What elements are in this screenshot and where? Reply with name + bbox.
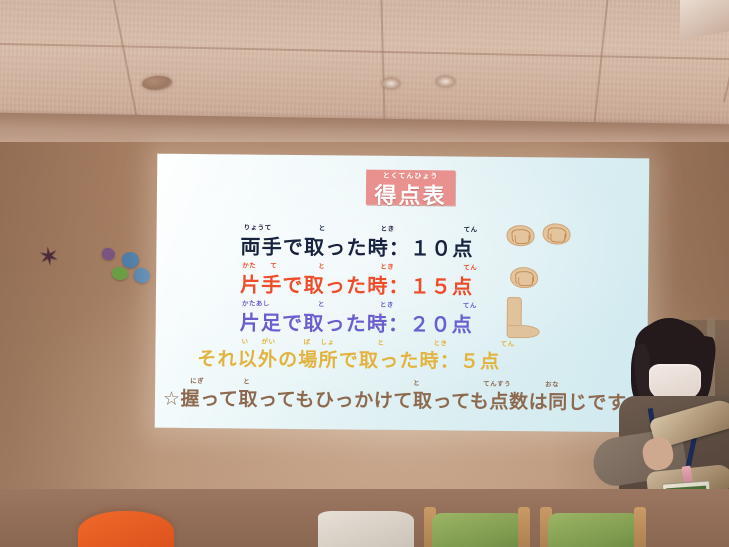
chair-seat xyxy=(432,513,524,547)
score-row-text: それ以外の場所で取った時：５点 xyxy=(197,344,500,374)
star-cutout-icon: ✶ xyxy=(34,242,63,271)
ceiling-downlight-icon xyxy=(436,76,455,87)
fist-icon xyxy=(510,267,538,288)
score-row-text: 片手で取った時：１５点 xyxy=(240,268,473,299)
chair-seat xyxy=(548,513,640,547)
score-note-text: ☆握って取ってもひっかけて取っても点数は同じです xyxy=(163,384,627,415)
score-row-text: 両手で取った時：１０点 xyxy=(240,230,473,261)
score-row-text: 片足で取った時：２０点 xyxy=(240,306,473,337)
fist-icon xyxy=(506,225,535,247)
photo-scene: ✶ とくてんひょう 得点表 りょうて と とき てん 両手で取った時：１０点 か… xyxy=(0,0,729,547)
wall-shadow-left xyxy=(0,142,160,547)
green-chair xyxy=(424,507,530,547)
fist-icon xyxy=(542,223,571,245)
slide-title-box: とくてんひょう 得点表 xyxy=(366,170,455,206)
projected-slide: とくてんひょう 得点表 りょうて と とき てん 両手で取った時：１０点 かた … xyxy=(155,154,650,433)
foot-sole-part xyxy=(507,325,540,338)
white-cushion xyxy=(318,511,414,547)
ceiling-downlight-icon xyxy=(382,78,400,89)
orange-cushion xyxy=(78,511,174,547)
chair-arm xyxy=(518,507,530,547)
ceiling xyxy=(0,0,729,150)
green-chair xyxy=(540,507,646,547)
foot-icon xyxy=(505,297,540,340)
page-title: 得点表 xyxy=(366,178,455,211)
chair-arm xyxy=(634,507,646,547)
